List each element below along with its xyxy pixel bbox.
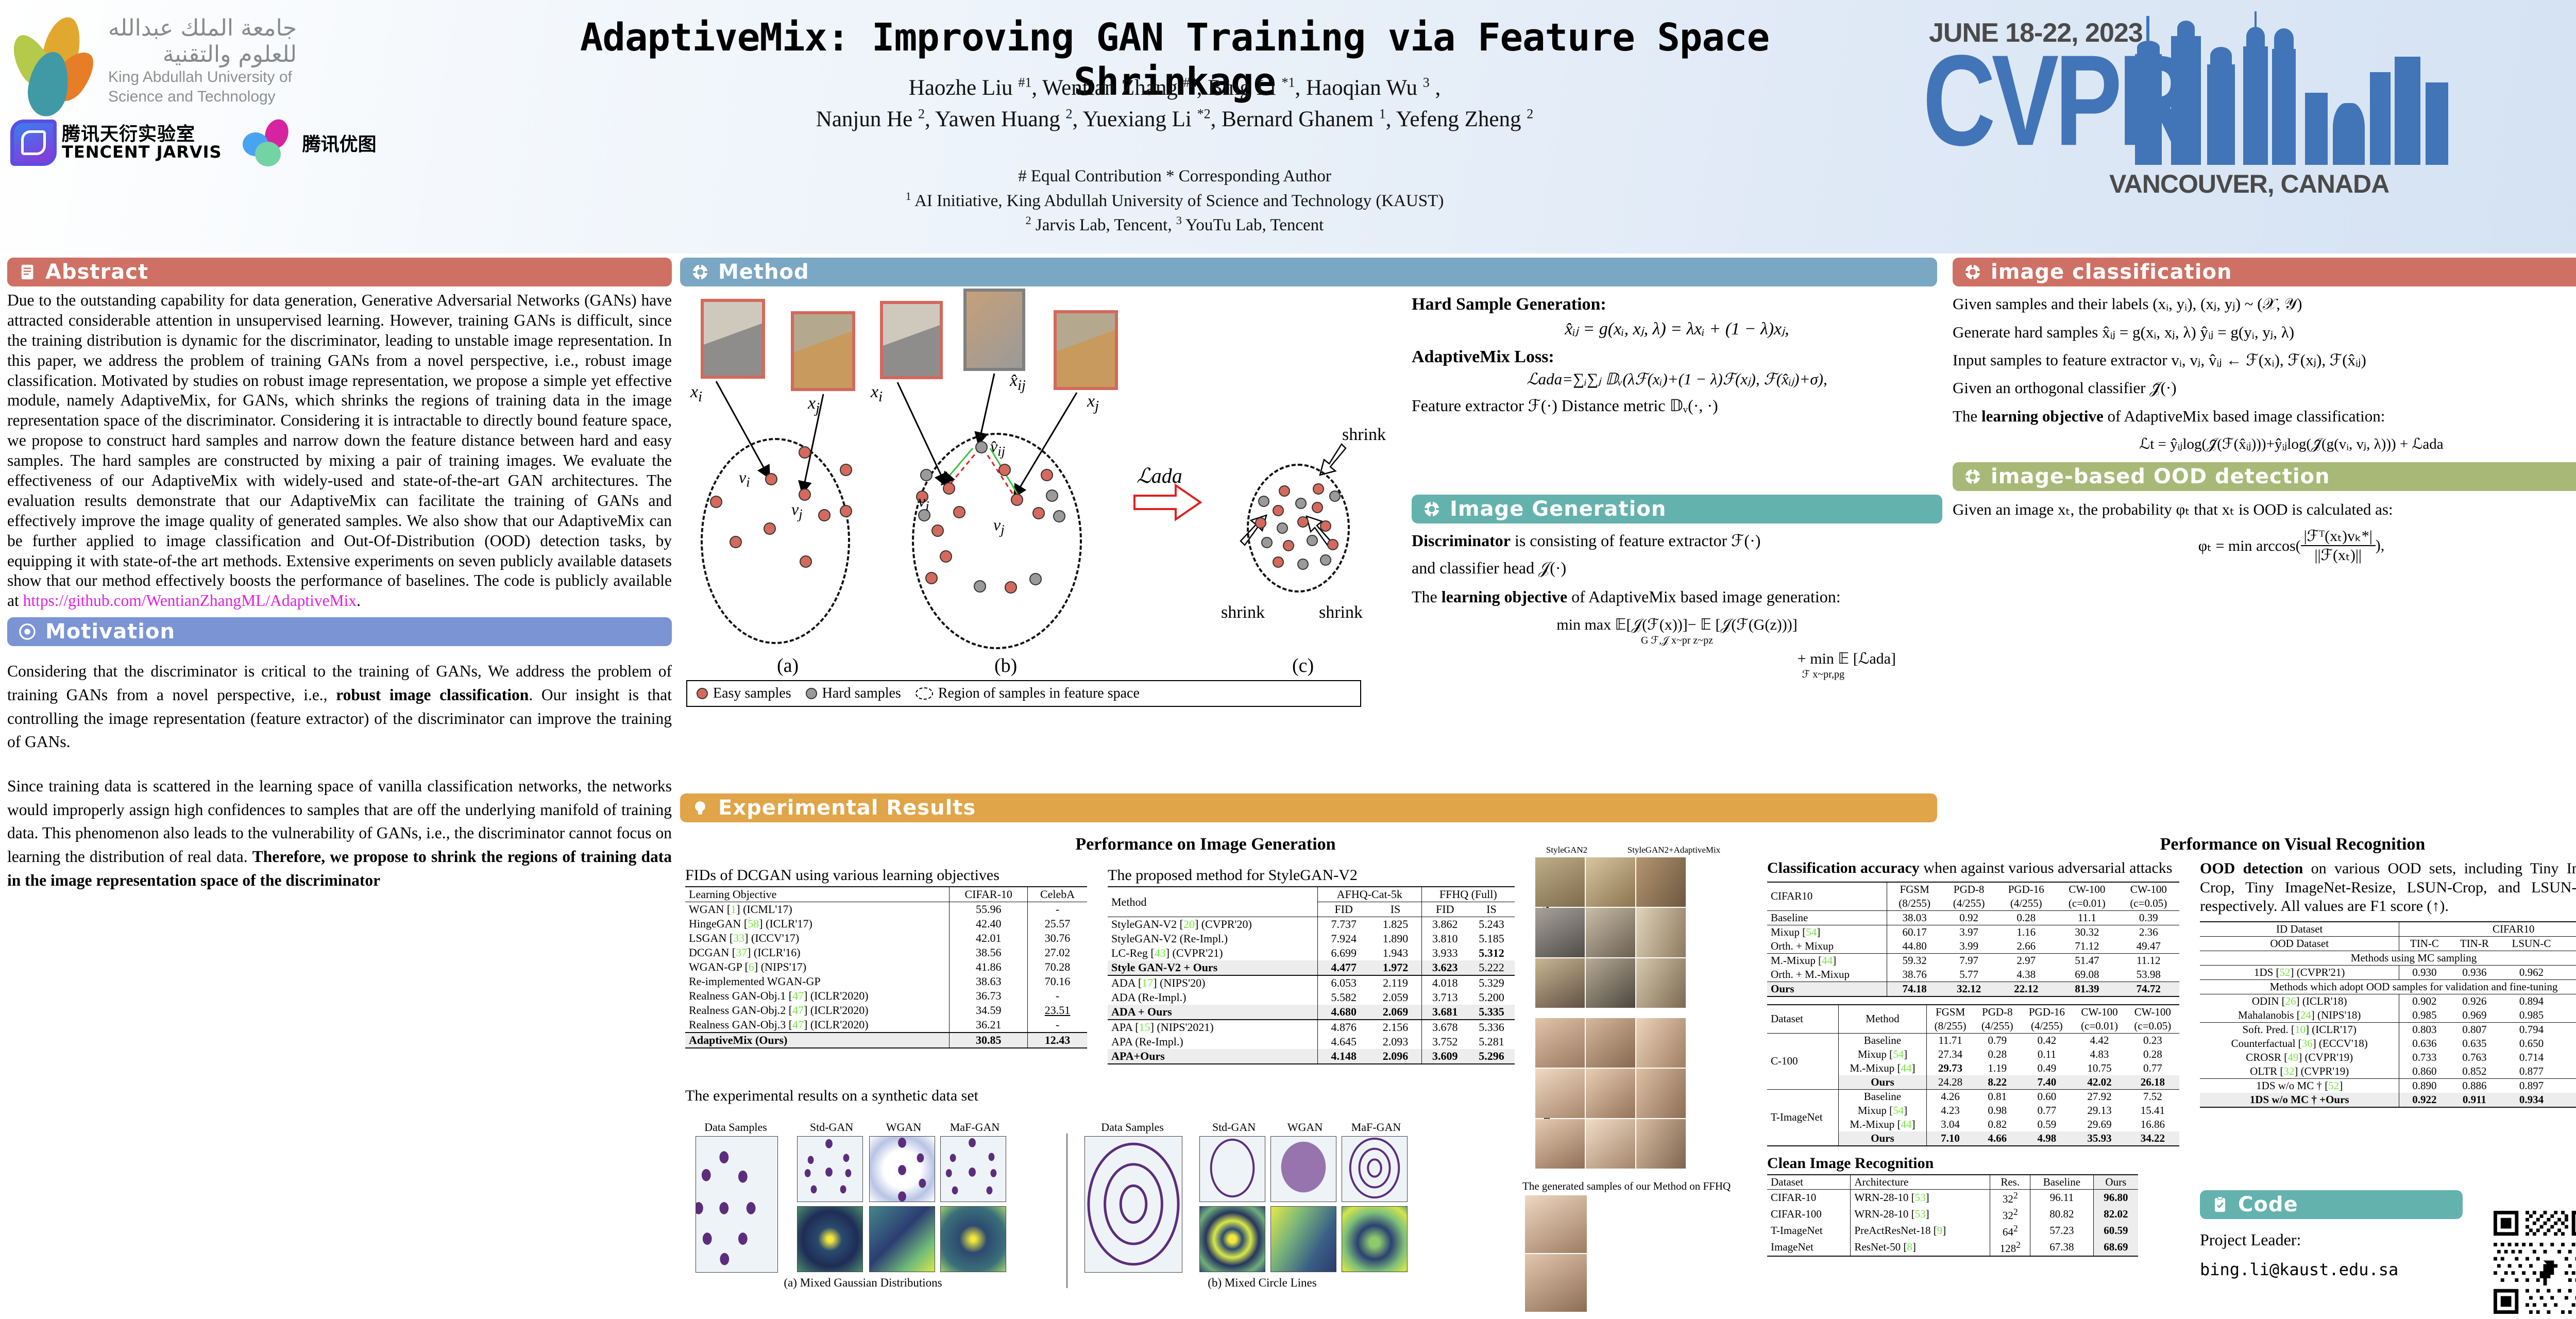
- lifebuoy-icon: [1964, 468, 1981, 485]
- table-row: CIFAR-100WRN-28-10 [53]32280.8282.02: [1767, 1206, 2138, 1223]
- sub-cw100-b: (c=0.05): [2118, 897, 2179, 911]
- lo-gen-post: of AdaptiveMix based image generation:: [1567, 587, 1841, 606]
- sample-dot: [840, 505, 852, 517]
- label-vhat-b: v̂ij: [990, 437, 1005, 459]
- section-title-code: Code: [2238, 1193, 2298, 1216]
- clean-image-recognition-table: Dataset Architecture Res. Baseline Ours …: [1767, 1174, 2138, 1257]
- motivation-paragraph-2: Since training data is scattered in the …: [7, 774, 672, 892]
- contribution-note: # Equal Contribution * Corresponding Aut…: [515, 165, 1834, 189]
- col-pgd8: PGD-8: [1942, 882, 1996, 897]
- sample-dot: [1011, 494, 1023, 506]
- circle-wgan-panel: [1270, 1136, 1336, 1202]
- sample-dot: [1297, 559, 1309, 570]
- synth-col-label: Std-GAN: [1200, 1121, 1267, 1134]
- synthetic-divider: [1066, 1134, 1067, 1288]
- lifebuoy-icon: [1964, 263, 1981, 281]
- sample-photo: [1636, 908, 1686, 957]
- table-row: 1DS [52] (CVPR'21)0.9300.9360.9620.961: [2200, 965, 2576, 979]
- ood-equation: φₜ = min arccos( |ℱᵀ(xₜ)vₖ*| ||ℱ(xₜ)|| )…: [1953, 527, 2576, 564]
- row-label-id-dataset: ID Dataset: [2200, 922, 2399, 937]
- sample-photo: [1586, 1119, 1635, 1169]
- sub2-cw100a: (c=0.01): [2073, 1019, 2126, 1034]
- legend-easy-label: Easy samples: [713, 685, 791, 702]
- sample-dot: [730, 536, 742, 548]
- group-label-ood-finetune: Methods which adopt OOD samples for vali…: [2200, 979, 2576, 994]
- col-cifar10: CIFAR-10: [950, 887, 1028, 902]
- shrink-label-right: shrink: [1319, 603, 1363, 622]
- table-row: Realness GAN-Obj.3 [47] (ICLR'2020)36.21…: [685, 1018, 1087, 1033]
- sample-dot: [818, 509, 831, 521]
- ffhq-sample-strip: [1525, 1195, 1607, 1314]
- ood-eq-denominator: ||ℱ(xₜ)||: [2301, 546, 2376, 564]
- feature-space-ellipse-b: [912, 433, 1082, 649]
- table-row: ADA [17] (NIPS'20)6.0532.1194.0185.329: [1108, 975, 1515, 990]
- col-cw100-b: CW-100: [2118, 882, 2179, 897]
- sample-dot: [940, 550, 952, 563]
- col-pgd16-2: PGD-16: [2021, 1005, 2073, 1019]
- sample-photo: [1535, 1069, 1585, 1118]
- target-icon: [19, 623, 36, 640]
- col-fid-ffhq: FID: [1421, 902, 1468, 917]
- col-cifar10-label: CIFAR10: [1767, 882, 1887, 911]
- adaptivemix-loss-title: AdaptiveMix Loss:: [1412, 347, 1942, 367]
- sample-dot: [1041, 469, 1053, 481]
- author-line-1: Haozhe Liu #1, Wentian Zhang #2, Bing Li…: [515, 72, 1834, 104]
- table-row: StyleGAN-V2 [20] (CVPR'20)7.7371.8253.86…: [1108, 917, 1515, 932]
- sample-dot: [1295, 498, 1307, 509]
- synth-col-label: WGAN: [1272, 1121, 1338, 1134]
- lifebuoy-icon: [1423, 500, 1440, 518]
- sample-photo: [1636, 1119, 1686, 1169]
- col-method: Method: [1108, 887, 1318, 917]
- sample-dot: [975, 441, 988, 453]
- sample-dot: [1307, 535, 1318, 546]
- section-banner-experimental-results: Experimental Results: [680, 793, 1937, 822]
- gaussian-stdgan-heatmap: [797, 1206, 863, 1272]
- sample-dot: [764, 522, 776, 535]
- hard-sample-equation: x̂ᵢⱼ = g(xᵢ, xⱼ, λ) = λxᵢ + (1 − λ)xⱼ,: [1412, 318, 1942, 339]
- circle-mafgan-panel: [1342, 1136, 1408, 1202]
- col-dataset-clean: Dataset: [1767, 1175, 1851, 1190]
- section-title-abstract: Abstract: [45, 260, 148, 284]
- kaust-english-line1: King Abdullah University of: [108, 67, 297, 87]
- ic-l5-post: of AdaptiveMix based image classificatio…: [2104, 407, 2385, 425]
- legend-easy-dot: [697, 688, 708, 699]
- ood-description: OOD detection on various OOD sets, inclu…: [2200, 859, 2576, 916]
- gaussian-mafgan-heatmap: [940, 1206, 1006, 1272]
- sample-dot: [920, 469, 933, 481]
- kaust-logo-mark: [7, 14, 100, 107]
- ic-line-3: Input samples to feature extractor vᵢ, v…: [1953, 351, 2576, 369]
- stylegan-table-block: The proposed method for StyleGAN-V2 Meth…: [1108, 867, 1520, 1064]
- tencent-jarvis-en: TENCENT JARVIS: [62, 144, 222, 160]
- table-row: CROSR [49] (CVPR'19)0.7330.7630.7140.731: [2200, 1051, 2576, 1064]
- table-row: 1DS w/o MC † [52]0.8900.8860.8970.907: [2200, 1078, 2576, 1093]
- sample-photo: [1535, 958, 1585, 1008]
- circle-mafgan-heatmap: [1342, 1206, 1408, 1272]
- figure-caption-c: (c): [1292, 654, 1314, 677]
- table-row: Mahalanobis [24] (NIPS'18)0.9850.9690.98…: [2200, 1008, 2576, 1023]
- sub2-fgsm: (8/255): [1926, 1019, 1974, 1034]
- circle-stdgan-heatmap: [1199, 1206, 1265, 1272]
- table-group-header-row: Method AFHQ-Cat-5k FFHQ (Full): [1108, 887, 1515, 902]
- col-is-afhq: IS: [1369, 902, 1421, 917]
- classification-accuracy-title: Classification accuracy when against var…: [1767, 859, 2184, 877]
- sample-dot: [931, 525, 944, 537]
- table-header-row: CIFAR10 FGSM PGD-8 PGD-16 CW-100 CW-100: [1767, 882, 2179, 897]
- cls-title-bold: Classification accuracy: [1767, 859, 1920, 876]
- author-list: Haozhe Liu #1, Wentian Zhang #2, Bing Li…: [515, 72, 1834, 135]
- sub-fgsm: (8/255): [1887, 897, 1942, 911]
- col-fgsm: FGSM: [1887, 882, 1942, 897]
- method-column: Method: [680, 258, 1937, 286]
- legend-region-label: Region of samples in feature space: [938, 685, 1140, 702]
- gaussian-stdgan-panel: [797, 1136, 863, 1202]
- synthetic-caption-b: (b) Mixed Circle Lines: [1118, 1276, 1406, 1290]
- col-dataset: Dataset: [1767, 1005, 1838, 1034]
- clean-image-recognition-title: Clean Image Recognition: [1767, 1155, 2184, 1172]
- shrink-label-left: shrink: [1221, 603, 1265, 622]
- table-row: C-100Baseline11.710.790.424.420.23: [1767, 1033, 2179, 1047]
- sample-photo: [1586, 857, 1635, 907]
- sample-dot: [1046, 489, 1058, 502]
- col-celeba: CelebA: [1028, 887, 1087, 902]
- table-row: LC-Reg [43] (CVPR'21)6.6991.9433.9335.31…: [1108, 946, 1515, 960]
- row-label-ood-dataset: OOD Dataset: [2200, 936, 2399, 951]
- sample-dot: [1053, 510, 1065, 522]
- generation-objective-eq1-sub: G ℱ,𝒥 x~pr z~pz: [1412, 634, 1942, 647]
- table-header-row: Dataset Architecture Res. Baseline Ours: [1767, 1175, 2138, 1190]
- section-banner-motivation: Motivation: [7, 617, 672, 646]
- affiliations: # Equal Contribution * Corresponding Aut…: [515, 165, 1834, 238]
- sample-photo: [1636, 857, 1686, 907]
- gaussian-wgan-panel: [869, 1136, 935, 1202]
- stylegan-v2-table: Method AFHQ-Cat-5k FFHQ (Full) FID IS FI…: [1108, 886, 1515, 1064]
- table-row: Mixup [54]60.173.971.1630.322.36: [1767, 925, 2179, 939]
- cifar10-adversarial-table: CIFAR10 FGSM PGD-8 PGD-16 CW-100 CW-100 …: [1767, 882, 2179, 997]
- feature-extractor-note: Feature extractor ℱ(·) Distance metric 𝔻…: [1412, 396, 1942, 415]
- sub-pgd8: (4/255): [1942, 897, 1996, 911]
- sample-dot: [1032, 507, 1045, 519]
- table-subheader-row: OOD Dataset TIN-C TIN-R LSUN-C LSUN-R: [2200, 936, 2576, 951]
- grid-col-label-stylegan2: StyleGAN2: [1528, 845, 1605, 855]
- label-vi-a: vi: [739, 468, 750, 490]
- ood-eq-main: φₜ = min arccos(: [2198, 537, 2301, 555]
- legend-region-icon: [916, 687, 933, 700]
- table-row: Orth. + M.-Mixup38.765.774.3869.0853.98: [1767, 968, 2179, 982]
- table-row: APA (Re-Impl.)4.6452.0933.7525.281: [1108, 1035, 1515, 1049]
- abstract-link-period: .: [357, 591, 361, 610]
- label-loss-ada: ℒada: [1137, 464, 1182, 488]
- synth-col-label: Data Samples: [1086, 1121, 1179, 1134]
- sample-dot: [998, 464, 1011, 476]
- ood-line-1: Given an image xₜ, the probability φₜ th…: [1953, 500, 2576, 519]
- col-fid-afhq: FID: [1318, 902, 1370, 917]
- gaussian-mafgan-panel: [940, 1136, 1006, 1202]
- synth-col-label: Std-GAN: [798, 1121, 865, 1134]
- section-banner-image-generation: Image Generation: [1412, 495, 1942, 523]
- kaust-arabic-line1: جامعة الملك عبدالله: [108, 15, 297, 42]
- sample-dot: [1313, 483, 1324, 495]
- table-row: OLTR [32] (CVPR'19)0.8600.8520.8770.877: [2200, 1064, 2576, 1079]
- col-baseline: Baseline: [2030, 1175, 2094, 1190]
- lightbulb-icon: [691, 799, 709, 817]
- ood-eq-tail: ),: [2376, 537, 2385, 554]
- section-title-experimental-results: Experimental Results: [718, 796, 976, 820]
- sample-image-grid: StyleGAN2 StyleGAN2+AdaptiveMix AFHQ-Cat…: [1525, 845, 1747, 1206]
- table-row: LSGAN [33] (ICCV'17)42.0130.76: [685, 931, 1087, 945]
- section-title-ood-detection: image-based OOD detection: [1991, 465, 2330, 488]
- ic-l5-pre: The: [1953, 407, 1981, 425]
- sample-photo: [1636, 1018, 1686, 1068]
- figure-caption-a: (a): [777, 654, 799, 677]
- motivation-paragraph-1: Considering that the discriminator is cr…: [7, 659, 672, 754]
- dataset-adversarial-table: Dataset Method FGSM PGD-8 PGD-16 CW-100 …: [1767, 1004, 2179, 1146]
- affiliation-1: 1 AI Initiative, King Abdullah Universit…: [515, 189, 1834, 213]
- col-group-afhq: AFHQ-Cat-5k: [1318, 887, 1422, 902]
- author-line-2: Nanjun He 2, Yawen Huang 2, Yuexiang Li …: [515, 104, 1834, 135]
- ic-line-1: Given samples and their labels (xᵢ, yᵢ),…: [1953, 295, 2576, 314]
- motivation-p1-bold: robust image classification: [336, 686, 529, 704]
- sample-dot: [1029, 573, 1042, 585]
- sample-dot: [1327, 539, 1338, 550]
- table-row: APA [15] (NIPS'2021)4.8762.1563.6785.336: [1108, 1020, 1515, 1035]
- sample-photo: [1535, 908, 1585, 957]
- sample-photo: [1535, 857, 1585, 907]
- sample-dot: [1320, 554, 1331, 566]
- table-row: Realness GAN-Obj.2 [47] (ICLR'2020)34.59…: [685, 1003, 1087, 1018]
- discriminator-rest: is consisting of feature extractor ℱ(·): [1511, 531, 1760, 550]
- synthetic-figure-a: Data Samples Std-GAN WGAN MaF-GAN: [688, 1121, 1069, 1291]
- table-row: Soft. Pred. [10] (ICLR'17)0.8030.8070.79…: [2200, 1022, 2576, 1037]
- table-row: T-ImageNetBaseline4.260.810.6027.927.52: [1767, 1089, 2179, 1104]
- sample-dot: [943, 482, 955, 495]
- sample-photo: [1636, 958, 1686, 1008]
- col-lsun-r: LSUN-R: [2564, 936, 2576, 951]
- sample-photo: [1636, 1069, 1686, 1118]
- document-icon: [19, 263, 36, 281]
- table-row: Realness GAN-Obj.1 [47] (ICLR'2020)36.73…: [685, 989, 1087, 1003]
- sample-dot: [1320, 520, 1331, 532]
- group-label-mc-sampling: Methods using MC sampling: [2200, 951, 2576, 965]
- section-banner-abstract: Abstract: [7, 258, 672, 286]
- heading-visual-recognition-perf: Performance on Visual Recognition: [1958, 835, 2576, 854]
- generation-objective-eq1: min max 𝔼[𝒥(ℱ(x))]− 𝔼 [𝒥(ℱ(G(z)))]: [1412, 616, 1942, 634]
- classifier-head-line: and classifier head 𝒥(·): [1412, 559, 1942, 578]
- sample-dot: [1283, 540, 1294, 551]
- method-equations: Hard Sample Generation: x̂ᵢⱼ = g(xᵢ, xⱼ,…: [1412, 295, 1942, 415]
- col-cw100-a: CW-100: [2056, 882, 2117, 897]
- table-row: Baseline38.030.920.2811.10.39: [1767, 910, 2179, 925]
- tencent-jarvis-logo-mark: [10, 120, 57, 166]
- tencent-youtu-logo-mark: [243, 119, 290, 166]
- table-row-ours: 1DS w/o MC † +Ours0.9220.9110.9340.937: [2200, 1093, 2576, 1107]
- col-method2: Method: [1838, 1005, 1926, 1034]
- col-learning-objective: Learning Objective: [685, 887, 950, 902]
- table-group-row: Methods using MC sampling: [2200, 951, 2576, 965]
- col-fgsm2: FGSM: [1926, 1005, 1974, 1019]
- sample-dot: [710, 496, 722, 508]
- sample-dot: [1273, 556, 1284, 568]
- table-row: M.-Mixup [44]59.327.972.9751.4711.12: [1767, 953, 2179, 968]
- circle-stdgan-panel: [1199, 1136, 1265, 1202]
- sample-photo: [1535, 1018, 1585, 1068]
- figure-caption-b: (b): [994, 654, 1017, 677]
- tencent-logos: 腾讯天衍实验室 TENCENT JARVIS 腾讯优图: [10, 114, 526, 171]
- sample-dot: [1329, 491, 1341, 502]
- cvpr-logo: JUNE 18-22, 2023 CVPR VANCOUVER, CANADA: [1893, 5, 2576, 222]
- right-column: image classification Given samples and t…: [1953, 258, 2576, 564]
- clipboard-check-icon: [2211, 1196, 2229, 1213]
- lo-gen-bold: learning objective: [1442, 587, 1567, 606]
- generation-objective-eq2: + min 𝔼 [ℒada]: [1412, 650, 1942, 668]
- col-cw100a-2: CW-100: [2073, 1005, 2126, 1019]
- synthetic-figure-b: Data Samples Std-GAN WGAN MaF-GAN (b) Mi…: [1077, 1121, 1468, 1291]
- heading-image-generation-perf: Performance on Image Generation: [845, 835, 1566, 854]
- kaust-english-line2: Science and Technology: [108, 87, 297, 107]
- section-banner-method: Method: [680, 258, 1937, 286]
- ic-l5-bold: learning objective: [1981, 407, 2104, 425]
- col-cw100b-2: CW-100: [2126, 1005, 2179, 1019]
- table-row: T-ImageNetPreActResNet-18 [9]64257.2360.…: [1767, 1223, 2138, 1239]
- legend-hard-label: Hard samples: [822, 685, 901, 702]
- sample-photo: [1525, 1254, 1587, 1312]
- synth-col-label: WGAN: [870, 1121, 937, 1134]
- grid-col-label-adaptivemix: StyleGAN2+AdaptiveMix: [1609, 845, 1738, 855]
- table-row: DCGAN [37] (ICLR'16)38.5627.02: [685, 945, 1087, 960]
- cvpr-city: VANCOUVER, CANADA: [2109, 169, 2389, 199]
- table-header-row: Learning Objective CIFAR-10 CelebA: [685, 887, 1087, 902]
- image-generation-column: Image Generation Discriminator is consis…: [1412, 495, 1942, 681]
- ood-results-block: OOD detection on various OOD sets, inclu…: [2200, 859, 2576, 1108]
- generation-objective-eq2-sub: ℱ x~pr,pg: [1412, 668, 1942, 681]
- dcgan-table-block: FIDs of DCGAN using various learning obj…: [685, 867, 1087, 1049]
- cls-title-rest: when against various adversarial attacks: [1920, 859, 2173, 876]
- discriminator-line: Discriminator is consisting of feature e…: [1412, 531, 1942, 550]
- sample-dot: [1279, 485, 1290, 497]
- synth-col-label: MaF-GAN: [1343, 1121, 1410, 1134]
- kaust-arabic-line2: للعلوم والتقنية: [108, 42, 297, 68]
- ood-detection-table: ID Dataset CIFAR10 OOD Dataset TIN-C TIN…: [2200, 921, 2576, 1108]
- col-lsun-c: LSUN-C: [2499, 936, 2563, 951]
- table-row-ours: Ours74.1832.1222.1281.3974.72: [1767, 982, 2179, 996]
- table-row-ours: ADA + Ours4.6802.0693.6815.335: [1108, 1005, 1515, 1020]
- col-res: Res.: [1990, 1175, 2030, 1190]
- abstract-body: Due to the outstanding capability for da…: [7, 291, 672, 611]
- col-group-ffhq: FFHQ (Full): [1421, 887, 1515, 902]
- legend-hard-dot: [806, 688, 817, 699]
- gaussian-data-samples-panel: [696, 1136, 778, 1273]
- sample-dot: [974, 580, 986, 593]
- section-banner-image-classification: image classification: [1953, 258, 2576, 286]
- stylegan-table-caption: The proposed method for StyleGAN-V2: [1108, 867, 1520, 884]
- sample-photo: [1586, 1018, 1635, 1068]
- sample-dot: [799, 446, 811, 459]
- sample-photo: [1586, 1069, 1635, 1118]
- table-row: HingeGAN [58] (ICLR'17)42.4025.57: [685, 917, 1087, 931]
- sample-dot: [953, 506, 965, 518]
- label-vi-b: vi: [918, 492, 929, 514]
- method-figure: xi xj xi x̂ij xj vi vj (a): [685, 294, 1406, 732]
- experimental-results-column: Experimental Results: [680, 793, 1937, 822]
- section-title-motivation: Motivation: [45, 620, 175, 644]
- table-row: ImageNetResNet-50 [8]128267.3868.69: [1767, 1239, 2138, 1256]
- left-column: Abstract Due to the outstanding capabili…: [7, 258, 672, 892]
- qr-code[interactable]: [2494, 1211, 2576, 1314]
- adaptivemix-loss-equation: ℒada=∑ᵢ∑ⱼ 𝔻ᵥ(λℱ(xᵢ)+(1 − λ)ℱ(xⱼ), ℱ(x̂ᵢⱼ…: [1412, 370, 1942, 388]
- table-header-row: Dataset Method FGSM PGD-8 PGD-16 CW-100 …: [1767, 1005, 2179, 1019]
- table-row: ADA (Re-Impl.)5.5822.0593.7135.200: [1108, 990, 1515, 1005]
- method-figure-legend: Easy samples Hard samples Region of samp…: [686, 680, 1361, 707]
- learning-objective-gen-line: The learning objective of AdaptiveMix ba…: [1412, 587, 1942, 606]
- synth-col-label: MaF-GAN: [941, 1121, 1008, 1134]
- sample-dot: [1277, 522, 1288, 534]
- sample-dot: [799, 488, 811, 501]
- ic-equation: ℒt = ŷᵢⱼlog(𝒥̃(ℱ(x̂ᵢⱼ)))+ŷᵢⱼlog(𝒥̃(g(vᵢ,…: [1953, 435, 2576, 453]
- table-row: Re-implemented WGAN-GP38.6370.16: [685, 974, 1087, 989]
- label-vj-b: vj: [993, 515, 1005, 537]
- col-ours: Ours: [2093, 1175, 2138, 1190]
- label-vj-a: vj: [791, 500, 803, 522]
- sample-dot: [925, 572, 938, 584]
- kaust-logo: جامعة الملك عبدالله للعلوم والتقنية King…: [7, 4, 471, 117]
- col-architecture: Architecture: [1851, 1175, 1990, 1190]
- poster-header: جامعة الملك عبدالله للعلوم والتقنية King…: [0, 0, 2576, 253]
- table-row-ours: AdaptiveMix (Ours)30.8512.43: [685, 1033, 1087, 1048]
- synthetic-block: The experimental results on a synthetic …: [685, 1087, 1510, 1105]
- ic-line-4: Given an orthogonal classifier 𝒥̃(·): [1953, 379, 2576, 398]
- table-row-ours: APA+Ours4.1482.0963.6095.296: [1108, 1049, 1515, 1064]
- ic-line-2: Generate hard samples x̂ᵢⱼ = g(xᵢ, xⱼ, λ…: [1953, 323, 2576, 342]
- ood-eq-numerator: |ℱᵀ(xₜ)vₖ*|: [2301, 527, 2376, 546]
- sample-dot: [1258, 496, 1269, 507]
- sample-dot: [1255, 517, 1266, 529]
- sample-dot: [765, 473, 777, 485]
- abstract-text: Due to the outstanding capability for da…: [7, 291, 672, 610]
- shrink-label-top: shrink: [1342, 425, 1386, 445]
- sample-photo: [1525, 1195, 1587, 1253]
- lifebuoy-icon: [691, 263, 709, 281]
- sub-pgd16: (4/255): [1996, 897, 2056, 911]
- section-title-method: Method: [718, 260, 809, 284]
- table-group-row: Methods which adopt OOD samples for vali…: [2200, 979, 2576, 994]
- col-is-ffhq: IS: [1468, 902, 1515, 917]
- code-block: Code Project Leader: bing.li@kaust.edu.s…: [2200, 1190, 2576, 1279]
- sub2-pgd8: (4/255): [1974, 1019, 2021, 1034]
- table-row: WGAN [1] (ICML'17)55.96-: [685, 902, 1087, 917]
- sample-dot: [800, 555, 812, 568]
- col-tin-c: TIN-C: [2399, 936, 2450, 951]
- table-row: CIFAR-10WRN-28-10 [53]32296.1196.80: [1767, 1189, 2138, 1206]
- table-row-ours: Style GAN-V2 + Ours4.4771.9723.6235.222: [1108, 960, 1515, 975]
- ood-desc-bold: OOD detection: [2200, 860, 2303, 877]
- sub2-cw100b: (c=0.05): [2126, 1019, 2179, 1034]
- col-pgd16: PGD-16: [1996, 882, 2056, 897]
- col-pgd8-2: PGD-8: [1974, 1005, 2021, 1019]
- table-row: WGAN-GP [6] (NIPS'17)41.8670.28: [685, 960, 1087, 974]
- tencent-jarvis-cn: 腾讯天衍实验室: [62, 125, 222, 144]
- sample-dot: [1273, 505, 1284, 516]
- github-link[interactable]: https://github.com/WentianZhangML/Adapti…: [23, 591, 357, 610]
- section-title-image-classification: image classification: [1991, 260, 2232, 284]
- synthetic-caption: The experimental results on a synthetic …: [685, 1087, 1510, 1105]
- sample-photo: [1586, 958, 1635, 1008]
- ffhq-samples-caption: The generated samples of our Method on F…: [1522, 1180, 1749, 1193]
- gaussian-wgan-heatmap: [869, 1206, 935, 1272]
- table-row: Counterfactual [36] (ECCV'18)0.6360.6350…: [2200, 1037, 2576, 1051]
- sample-photo: [1586, 908, 1635, 957]
- sub-cw100-a: (c=0.01): [2056, 897, 2117, 911]
